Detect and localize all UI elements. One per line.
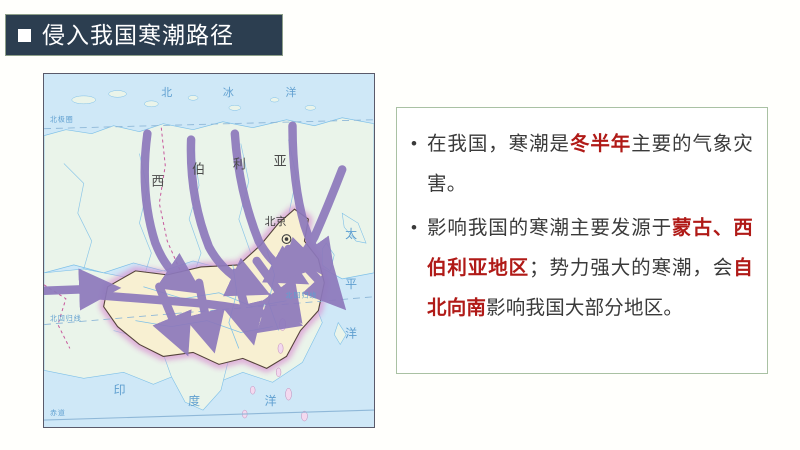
map-label-line-label-17: 赤道: [50, 408, 66, 417]
slide-title-banner: 侵入我国寒潮路径: [5, 14, 283, 56]
map-label-ocean-15: 度: [188, 394, 201, 408]
map-label-city-8: 北京: [265, 214, 287, 228]
cold-wave-route-map: 北冰洋北极圈西伯利亚北京太平洋北回归线北回归线印度洋赤道: [43, 73, 375, 428]
bullet-list: •在我国，寒潮是冬半年主要的气象灾害。•影响我国的寒潮主要发源于蒙古、西伯利亚地…: [411, 124, 753, 328]
map-label-line-label-12: 北回归线: [286, 291, 318, 300]
explanation-text-panel: •在我国，寒潮是冬半年主要的气象灾害。•影响我国的寒潮主要发源于蒙古、西伯利亚地…: [396, 107, 768, 374]
body-text-segment: 影响我国的寒潮主要发源于: [427, 217, 672, 239]
arrow-west-horizontal: [44, 289, 98, 291]
bullet-item: •影响我国的寒潮主要发源于蒙古、西伯利亚地区；势力强大的寒潮，会自北向南影响我国…: [411, 208, 753, 328]
square-bullet-icon: [18, 29, 31, 42]
bullet-marker-icon: •: [411, 124, 427, 164]
map-label-region-4: 西: [151, 173, 164, 188]
map-label-ocean-1: 冰: [223, 86, 235, 99]
map-label-ocean-10: 平: [345, 277, 358, 291]
map-label-region-5: 伯: [192, 161, 205, 176]
map-label-ocean-0: 北: [161, 86, 173, 99]
map-label-line-label-13: 北回归线: [50, 314, 82, 323]
bullet-marker-icon: •: [411, 208, 427, 248]
map-canvas: 北冰洋北极圈西伯利亚北京太平洋北回归线北回归线印度洋赤道: [44, 74, 374, 427]
body-text-segment: 影响我国大部分地区。: [486, 297, 683, 319]
map-label-ocean-9: 太: [345, 227, 358, 241]
map-label-region-6: 利: [233, 156, 246, 171]
map-label-ocean-16: 洋: [265, 394, 278, 408]
bullet-text: 在我国，寒潮是冬半年主要的气象灾害。: [427, 124, 753, 204]
body-text-segment: 在我国，寒潮是: [427, 133, 570, 155]
map-label-ocean-2: 洋: [286, 85, 298, 99]
bullet-text: 影响我国的寒潮主要发源于蒙古、西伯利亚地区；势力强大的寒潮，会自北向南影响我国大…: [427, 208, 753, 328]
map-label-ocean-14: 印: [114, 383, 127, 397]
highlighted-term: 冬半年: [570, 133, 631, 155]
body-text-segment: ；势力强大的寒潮，会: [529, 257, 733, 279]
bullet-item: •在我国，寒潮是冬半年主要的气象灾害。: [411, 124, 753, 204]
map-label-line-label-3: 北极圈: [50, 115, 74, 124]
page-title: 侵入我国寒潮路径: [42, 24, 234, 47]
map-label-ocean-11: 洋: [345, 327, 358, 341]
map-label-region-7: 亚: [274, 153, 287, 168]
